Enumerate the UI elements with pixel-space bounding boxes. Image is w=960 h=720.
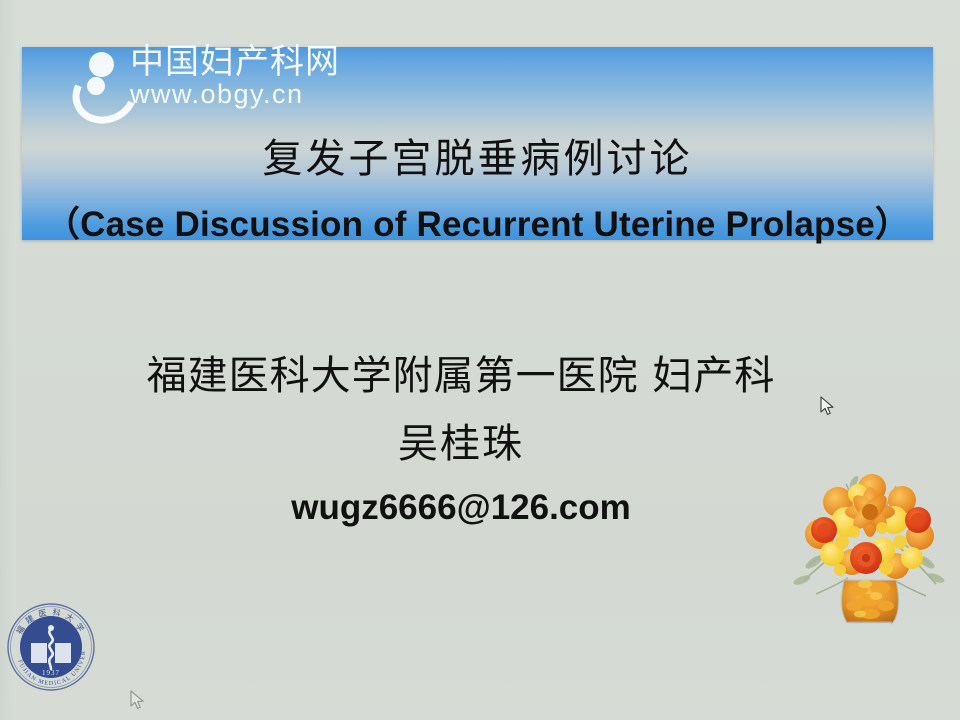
- logo-embrace-arc: [64, 55, 147, 134]
- slide-body-block: 福建医科大学附属第一医院 妇产科 吴桂珠 wugz6666@126.com: [0, 356, 922, 525]
- presenter-name: 吴桂珠: [0, 424, 922, 464]
- seal-year: 1937: [42, 669, 60, 677]
- watermark-site-name: 中国妇产科网: [130, 45, 340, 79]
- slide-title-chinese: 复发子宫脱垂病例讨论: [22, 139, 933, 179]
- obgy-watermark: 中国妇产科网 www.obgy.cn: [70, 43, 340, 113]
- watermark-site-url: www.obgy.cn: [130, 81, 340, 108]
- logo-head-circle: [89, 52, 114, 77]
- affiliation-text: 福建医科大学附属第一医院 妇产科: [0, 356, 922, 396]
- presentation-slide: 中国妇产科网 www.obgy.cn 复发子宫脱垂病例讨论 （Case Disc…: [0, 0, 960, 720]
- presenter-email: wugz6666@126.com: [0, 490, 922, 525]
- fujian-medical-university-seal: 1937 FUJIAN MEDICAL UNIVERSITY 福建医科大学: [5, 601, 97, 693]
- title-banner: 中国妇产科网 www.obgy.cn 复发子宫脱垂病例讨论 （Case Disc…: [22, 47, 933, 240]
- logo-child-circle: [87, 77, 105, 95]
- flower-bouquet-image: [786, 462, 954, 637]
- slide-title-english: （Case Discussion of Recurrent Uterine Pr…: [22, 207, 933, 242]
- watermark-text-block: 中国妇产科网 www.obgy.cn: [130, 45, 340, 108]
- obgy-mother-child-logo: [70, 47, 128, 113]
